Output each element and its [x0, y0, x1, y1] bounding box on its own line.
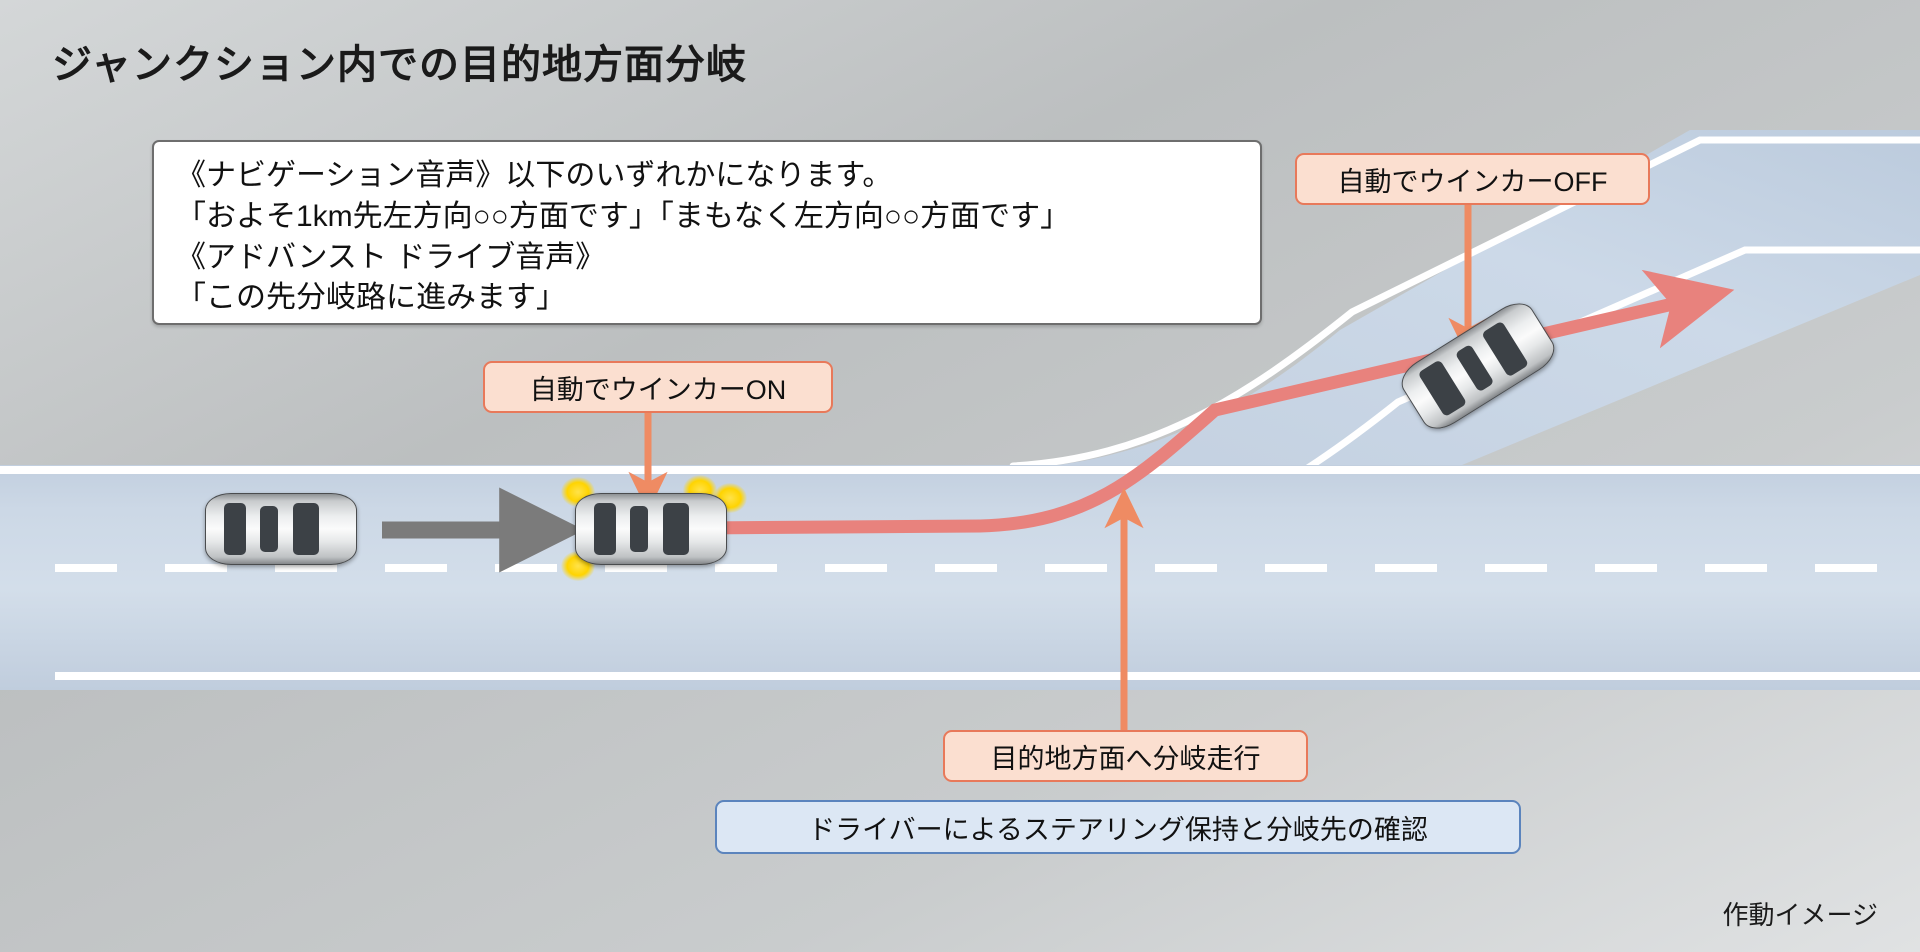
rear-window — [293, 503, 319, 555]
car-approaching — [205, 493, 357, 565]
page-title: ジャンクション内での目的地方面分岐 — [52, 32, 747, 90]
windshield — [224, 503, 246, 555]
voice-line-1: 《ナビゲーション音声》以下のいずれかになります。 — [176, 156, 1238, 197]
diagram-stage: ジャンクション内での目的地方面分岐 《ナビゲーション音声》以下のいずれかになりま… — [0, 0, 1920, 952]
callout-driver-action: ドライバーによるステアリング保持と分岐先の確認 — [715, 800, 1521, 854]
windshield — [1481, 321, 1529, 378]
rear-window — [1418, 359, 1468, 417]
voice-line-2: 「およそ1km先左方向○○方面です」「まもなく左方向○○方面です」 — [176, 197, 1238, 238]
car-signaling — [575, 493, 727, 565]
side-window-front — [630, 506, 648, 552]
windshield — [594, 503, 616, 555]
image-caption: 作動イメージ — [1723, 895, 1878, 932]
voice-line-3: 《アドバンスト ドライブ音声》 — [176, 238, 1238, 279]
callout-blinker-on: 自動でウインカーON — [483, 361, 833, 413]
callout-branch-drive: 目的地方面へ分岐走行 — [943, 730, 1308, 782]
side-window-front — [260, 506, 278, 552]
voice-line-4: 「この先分岐路に進みます」 — [176, 278, 1238, 319]
rear-window — [663, 503, 689, 555]
car-body — [575, 493, 727, 565]
callout-blinker-off: 自動でウインカーOFF — [1295, 153, 1650, 205]
navigation-voice-box: 《ナビゲーション音声》以下のいずれかになります。 「およそ1km先左方向○○方面… — [152, 140, 1262, 325]
car-body — [205, 493, 357, 565]
side-window-front — [1455, 344, 1495, 393]
